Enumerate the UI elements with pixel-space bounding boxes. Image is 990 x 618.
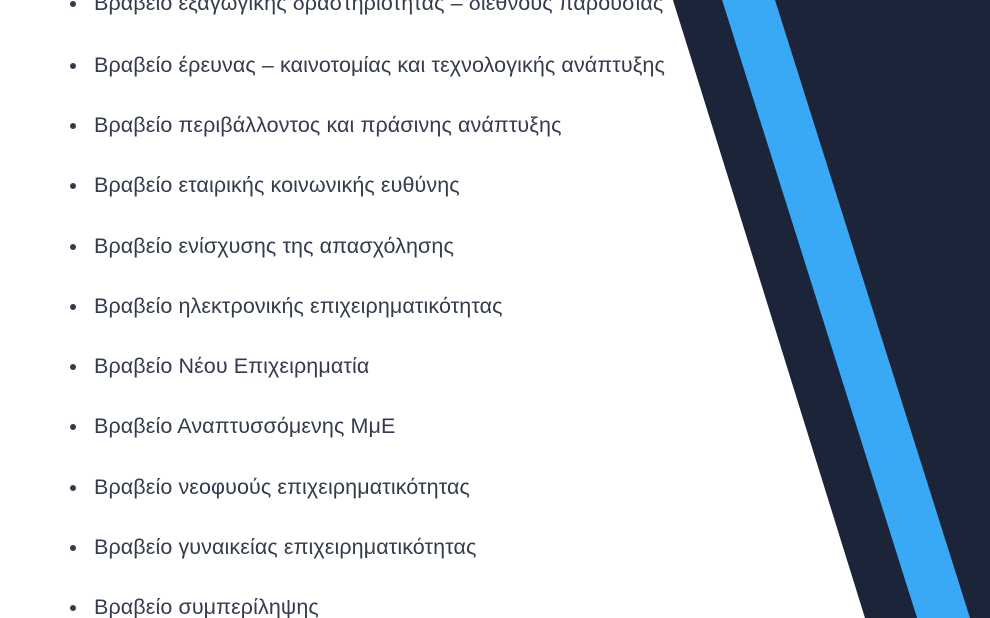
presentation-slide: Βραβείο εξαγωγικής δραστηριότητας – διεθ…: [0, 0, 990, 618]
bullet-dot-icon: [70, 605, 76, 611]
list-item: Βραβείο ενίσχυσης της απασχόλησης: [70, 231, 454, 261]
list-item-label: Βραβείο έρευνας – καινοτομίας και τεχνολ…: [94, 50, 665, 80]
bullet-dot-icon: [70, 485, 76, 491]
bullet-dot-icon: [70, 304, 76, 310]
list-item: Βραβείο συμπερίληψης: [70, 592, 319, 618]
list-item-label: Βραβείο νεοφυούς επιχειρηματικότητας: [94, 472, 470, 502]
award-category-list: Βραβείο εξαγωγικής δραστηριότητας – διεθ…: [0, 0, 700, 618]
list-item: Βραβείο εταιρικής κοινωνικής ευθύνης: [70, 170, 460, 200]
bullet-dot-icon: [70, 183, 76, 189]
bullet-dot-icon: [70, 364, 76, 370]
bullet-dot-icon: [70, 1, 76, 7]
list-item: Βραβείο γυναικείας επιχειρηματικότητας: [70, 532, 477, 562]
navy-wedge-shape: [673, 0, 990, 618]
blue-stripe-shape: [722, 0, 970, 618]
list-item: Βραβείο Νέου Επιχειρηματία: [70, 351, 369, 381]
decorative-band-graphic: [660, 0, 990, 618]
list-item-label: Βραβείο Νέου Επιχειρηματία: [94, 351, 369, 381]
navy-sliver-shape: [673, 0, 917, 618]
list-item: Βραβείο ηλεκτρονικής επιχειρηματικότητας: [70, 291, 503, 321]
list-item-label: Βραβείο συμπερίληψης: [94, 592, 319, 618]
decorative-diagonal-band: [660, 0, 990, 618]
list-item: Βραβείο εξαγωγικής δραστηριότητας – διεθ…: [70, 0, 663, 18]
list-item-label: Βραβείο γυναικείας επιχειρηματικότητας: [94, 532, 477, 562]
list-item: Βραβείο νεοφυούς επιχειρηματικότητας: [70, 472, 470, 502]
list-item: Βραβείο περιβάλλοντος και πράσινης ανάπτ…: [70, 110, 562, 140]
list-item-label: Βραβείο εξαγωγικής δραστηριότητας – διεθ…: [94, 0, 663, 18]
bullet-dot-icon: [70, 244, 76, 250]
bullet-dot-icon: [70, 545, 76, 551]
list-item-label: Βραβείο Αναπτυσσόμενης ΜμΕ: [94, 411, 395, 441]
list-item-label: Βραβείο περιβάλλοντος και πράσινης ανάπτ…: [94, 110, 562, 140]
list-item-label: Βραβείο εταιρικής κοινωνικής ευθύνης: [94, 170, 460, 200]
list-item-label: Βραβείο ενίσχυσης της απασχόλησης: [94, 231, 454, 261]
list-item: Βραβείο έρευνας – καινοτομίας και τεχνολ…: [70, 50, 665, 80]
bullet-dot-icon: [70, 123, 76, 129]
list-item: Βραβείο Αναπτυσσόμενης ΜμΕ: [70, 411, 395, 441]
list-item-label: Βραβείο ηλεκτρονικής επιχειρηματικότητας: [94, 291, 503, 321]
bullet-dot-icon: [70, 424, 76, 430]
bullet-dot-icon: [70, 63, 76, 69]
